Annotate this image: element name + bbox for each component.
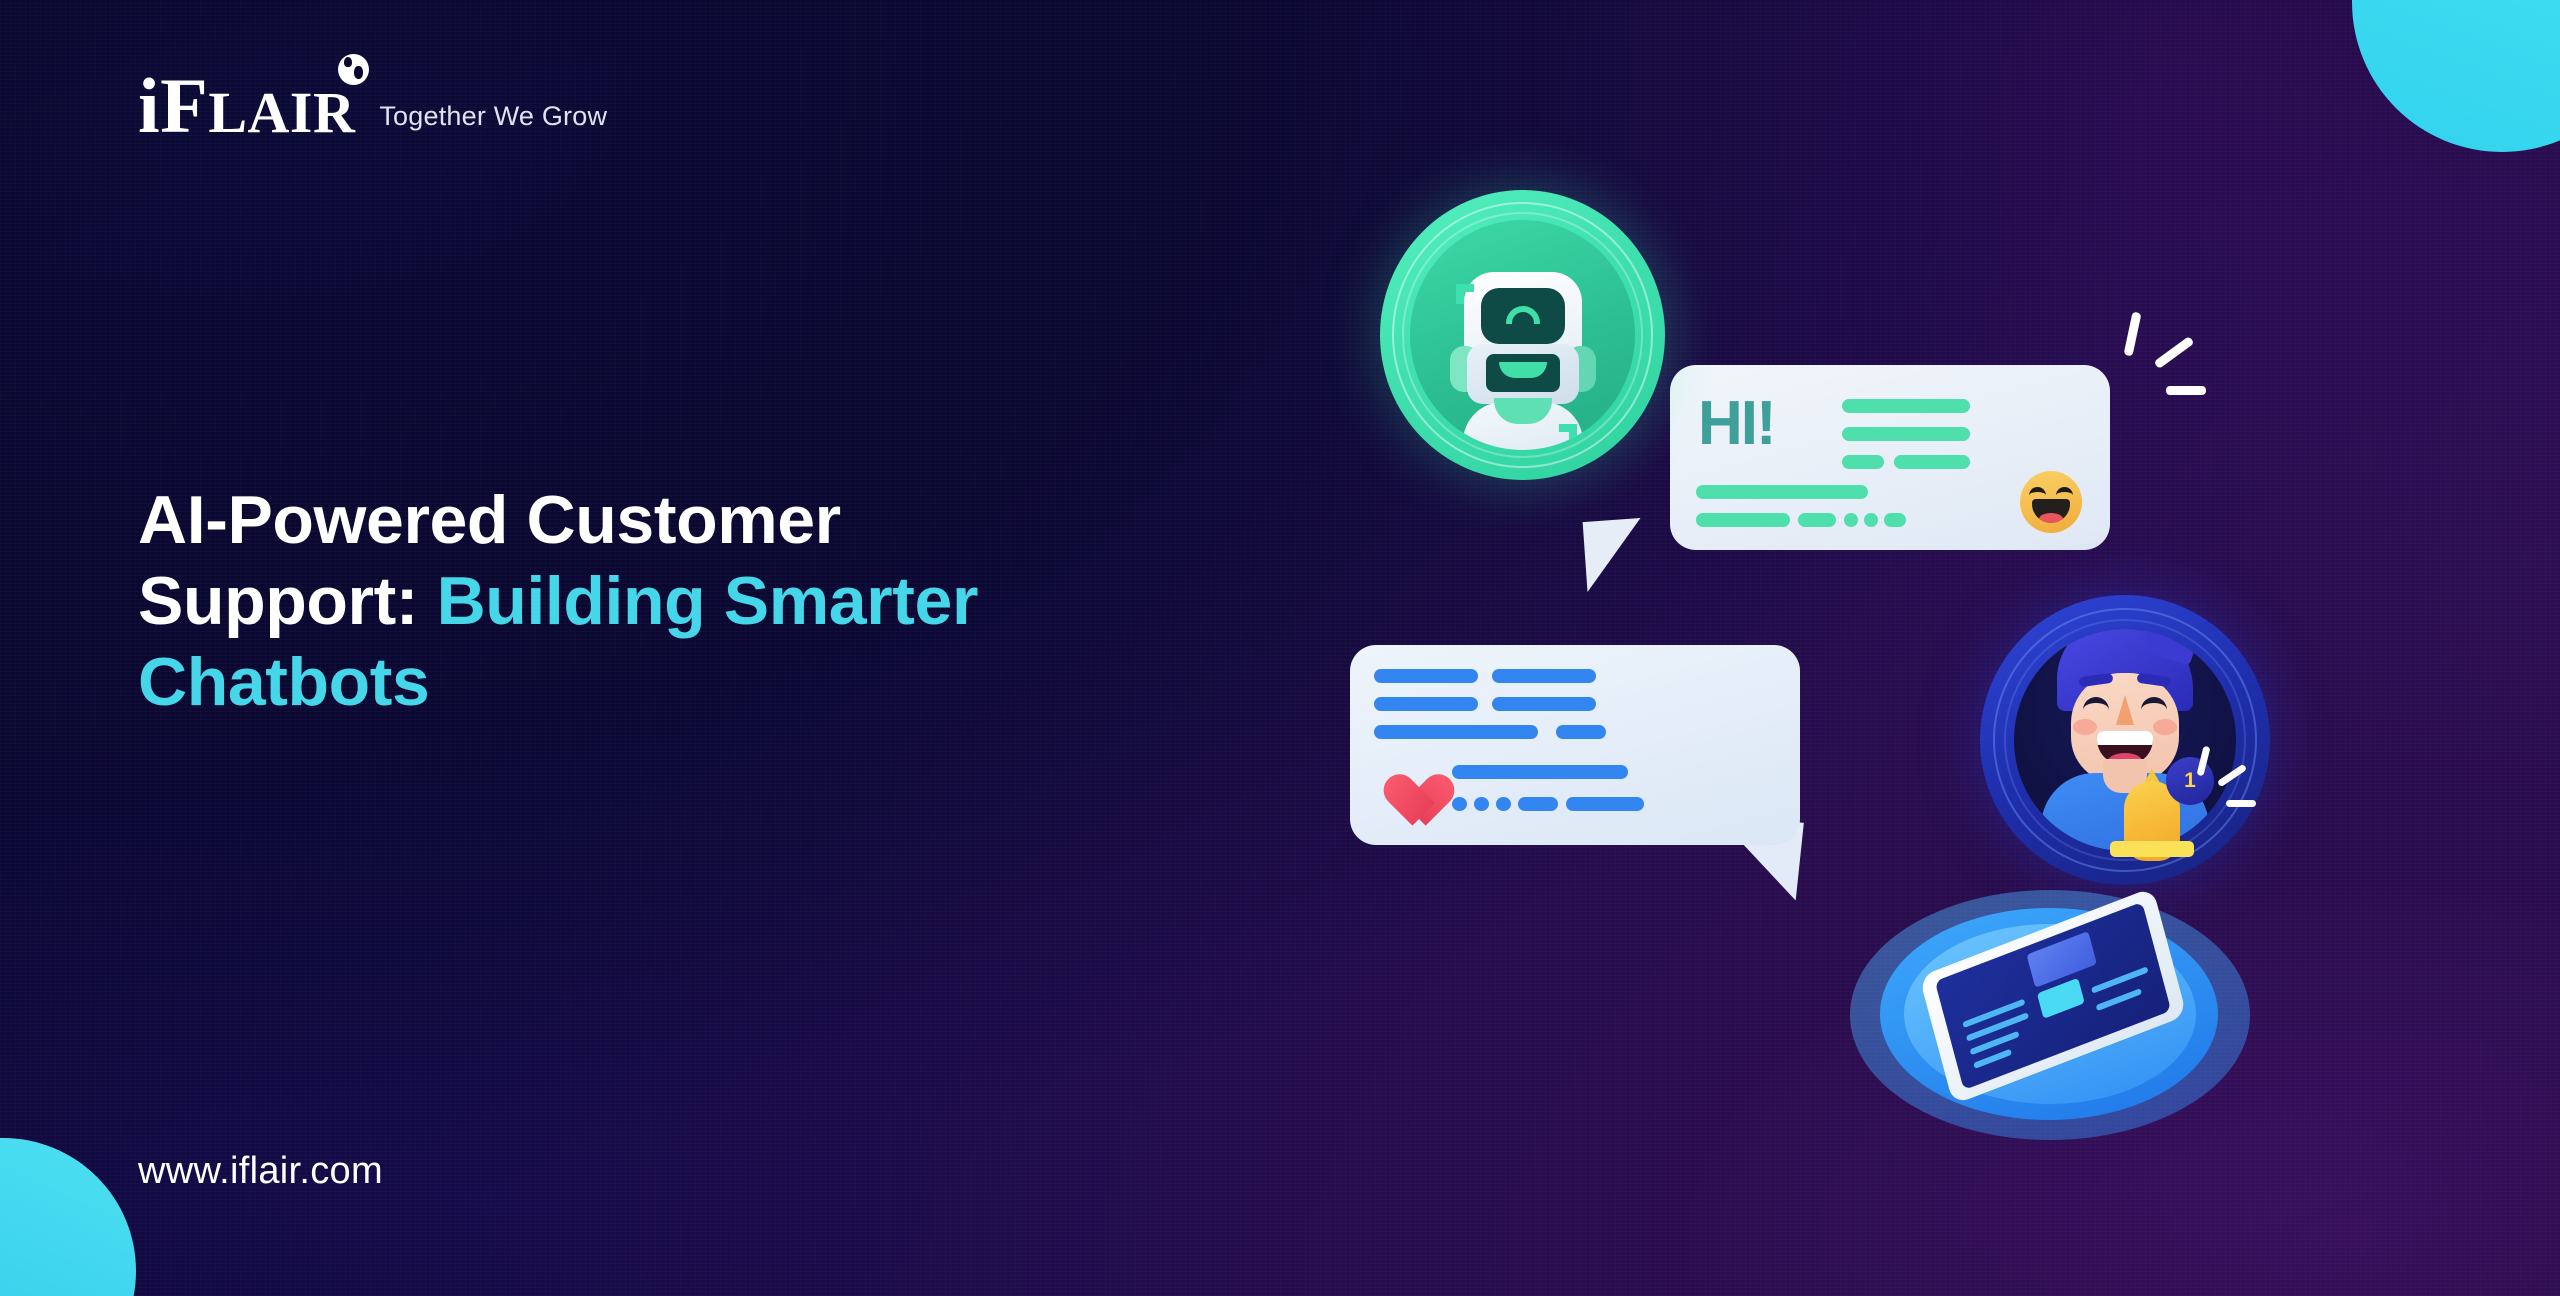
user-bubble-line [1374,669,1478,683]
bot-bubble-line [1884,513,1906,527]
bot-bubble-line [1696,513,1790,527]
bot-bubble-greeting: HI! [1698,393,1775,455]
bot-bubble-line [1842,399,1970,413]
user-bubble-dot [1496,797,1511,811]
logo-wordmark: iFLAIR [138,70,355,142]
user-cheek-left [2073,719,2097,735]
phone-screen-line [1962,999,2025,1028]
phone-screen-line [2096,988,2142,1011]
user-bubble-line [1374,697,1478,711]
bot-bubble-tail [1583,518,1646,592]
sparkle-icon [2166,386,2206,395]
user-bubble-line [1566,797,1644,811]
notification-badge: 1 [2166,757,2214,805]
robot-avatar [1380,190,1665,480]
hero-illustration: HI! [1380,190,2500,1090]
bot-bubble-line [1842,455,1884,469]
user-bubble-dot [1452,797,1467,811]
user-cheek-right [2153,719,2177,735]
bot-bubble-line [1696,485,1868,499]
robot-smile [1499,362,1547,378]
headline-line-2: Support: Building Smarter [138,561,1238,642]
headline-line-3: Chatbots [138,642,1238,723]
robot-eye [1506,306,1540,324]
user-eye-left [2083,697,2109,710]
user-bubble-line [1452,765,1628,779]
page-title: AI-Powered Customer Support: Building Sm… [138,480,1238,723]
user-bubble-line [1492,697,1596,711]
sparkle-icon [2154,336,2195,369]
robot-pixel-accent [1456,284,1464,304]
bot-bubble-line [1798,513,1836,527]
brand-logo[interactable]: iFLAIR Together We Grow [138,70,607,142]
bell-base [2110,841,2194,857]
user-chat-bubble [1350,645,1800,845]
bot-bubble-line [1894,455,1970,469]
headline-line-2-plain: Support: [138,563,437,639]
bell-icon: 1 [2120,775,2184,871]
robot-collar [1494,398,1552,424]
emoji-mouth [2032,499,2070,523]
sparkle-icon [2124,312,2142,357]
laughing-emoji-icon [2020,471,2082,533]
emoji-eye-left [2029,487,2046,496]
user-bubble-line [1556,725,1606,739]
robot-pixel-accent [1569,424,1577,446]
bot-bubble-dot [1864,513,1878,527]
bot-chat-bubble: HI! [1670,365,2110,550]
emoji-tongue [2039,513,2063,523]
user-bubble-line [1374,725,1538,739]
emoji-eye-right [2056,487,2073,496]
user-eye-right [2141,697,2167,710]
headline-line-2-accent: Building Smarter [437,563,978,639]
headline-line-1: AI-Powered Customer [138,480,1238,561]
logo-mark: iFLAIR [138,70,355,142]
user-nose [2116,695,2134,725]
user-bubble-dot [1474,797,1489,811]
bot-bubble-dot [1844,513,1858,527]
user-bubble-line [1492,669,1596,683]
sparkle-icon [2226,800,2256,807]
robot-body [1463,402,1583,450]
user-bubble-line [1518,797,1558,811]
robot-mouth [1486,354,1560,392]
globe-icon [338,54,369,85]
user-teeth [2097,731,2153,745]
robot-avatar-inner [1410,220,1635,450]
phone-screen-tile [2027,931,2097,988]
robot-visor [1481,288,1565,344]
heart-icon [1372,753,1434,811]
bot-bubble-line [1842,427,1970,441]
brand-tagline: Together We Grow [379,101,607,142]
website-url[interactable]: www.iflair.com [138,1150,383,1193]
robot-mouth-panel [1467,344,1579,404]
